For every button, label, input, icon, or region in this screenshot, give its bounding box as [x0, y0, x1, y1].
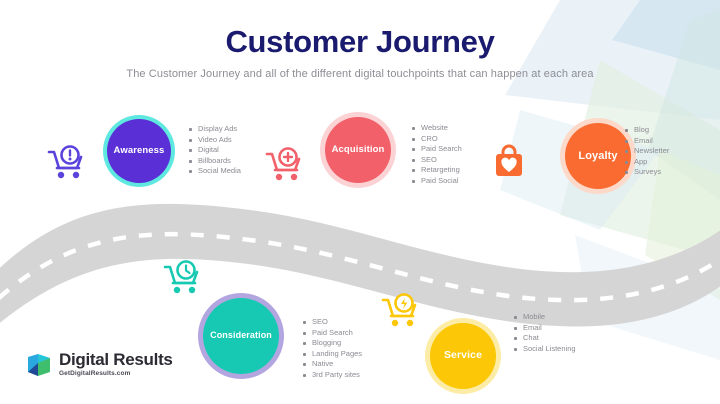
- list-item: Email: [625, 136, 669, 147]
- logo-url: GetDigitalResults.com: [59, 369, 173, 378]
- page-title: Customer Journey: [0, 24, 720, 60]
- list-item: Blog: [625, 125, 669, 136]
- list-item: Chat: [514, 333, 576, 344]
- list-item: Blogging: [303, 338, 362, 349]
- bubble-awareness[interactable]: Awareness: [107, 119, 171, 183]
- list-item: SEO: [412, 155, 462, 166]
- logo-name: Digital Results: [59, 351, 173, 369]
- list-item: Website: [412, 123, 462, 134]
- shopping-cart-bolt-icon: [380, 290, 422, 330]
- points-loyalty: Blog Email Newsletter App Surveys: [625, 125, 669, 178]
- list-item-continuation: Billboards: [189, 156, 241, 167]
- bubble-loyalty[interactable]: Loyalty: [565, 123, 631, 189]
- list-item: Paid Search: [412, 144, 462, 155]
- list-item: Retargeting: [412, 165, 462, 176]
- list-item: 3rd Party sites: [303, 370, 362, 381]
- list-item: Paid Search: [303, 328, 362, 339]
- list-item: Social Listening: [514, 344, 576, 355]
- list-item: App: [625, 157, 669, 168]
- list-item: Display Ads: [189, 124, 241, 135]
- list-item: Native: [303, 359, 362, 370]
- list-item: Social Media: [189, 166, 241, 177]
- list-item: SEO: [303, 317, 362, 328]
- points-consideration: SEO Paid Search Blogging Landing Pages N…: [303, 317, 362, 380]
- list-item: CRO: [412, 134, 462, 145]
- customer-journey-infographic: Awareness Display Ads Video Ads Digital …: [0, 0, 720, 404]
- list-item: Landing Pages: [303, 349, 362, 360]
- points-acquisition: Website CRO Paid Search SEO Retargeting …: [412, 123, 462, 186]
- points-awareness: Display Ads Video Ads Digital Billboards…: [189, 124, 241, 177]
- list-item: Surveys: [625, 167, 669, 178]
- digital-results-logo-mark: [26, 352, 52, 378]
- logo-text: Digital Results GetDigitalResults.com: [59, 351, 173, 378]
- points-service: Mobile Email Chat Social Listening: [514, 312, 576, 354]
- list-item: Newsletter: [625, 146, 669, 157]
- list-item: Digital: [189, 145, 241, 156]
- brand-logo[interactable]: Digital Results GetDigitalResults.com: [26, 351, 173, 378]
- shopping-cart-alert-icon: [46, 142, 88, 182]
- bubble-consideration[interactable]: Consideration: [203, 298, 279, 374]
- list-item: Paid Social: [412, 176, 462, 187]
- shopping-bag-heart-icon: [492, 144, 528, 182]
- page-subtitle: The Customer Journey and all of the diff…: [0, 68, 720, 80]
- list-item: Video Ads: [189, 135, 241, 146]
- list-item: Email: [514, 323, 576, 334]
- bubble-acquisition[interactable]: Acquisition: [325, 117, 391, 183]
- bubble-service[interactable]: Service: [430, 323, 496, 389]
- shopping-cart-clock-icon: [162, 257, 204, 297]
- list-item: Mobile: [514, 312, 576, 323]
- shopping-cart-plus-icon: [264, 144, 306, 184]
